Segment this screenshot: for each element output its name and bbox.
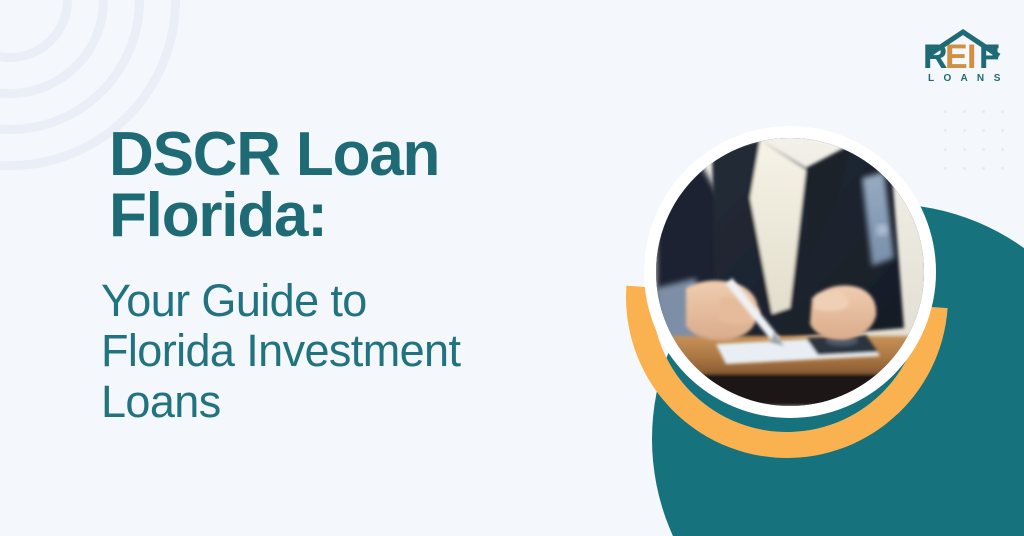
logo-subtext: L O A N S	[928, 73, 1004, 84]
hero-photo	[656, 138, 924, 406]
page-subtitle: Your Guide to Florida Investment Loans	[101, 276, 501, 427]
logo-letter-i: I	[967, 38, 976, 76]
page-title: DSCR Loan Florida:	[109, 124, 539, 247]
arc-ring-2	[0, 0, 108, 98]
banner-canvas: DSCR Loan Florida: Your Guide to Florida…	[0, 0, 1024, 536]
dot-grid-pattern	[934, 100, 1008, 174]
arc-ring-3	[0, 0, 144, 134]
arc-ring-1	[0, 0, 72, 62]
brand-logo[interactable]: R E I F L O A N S	[921, 26, 1005, 84]
